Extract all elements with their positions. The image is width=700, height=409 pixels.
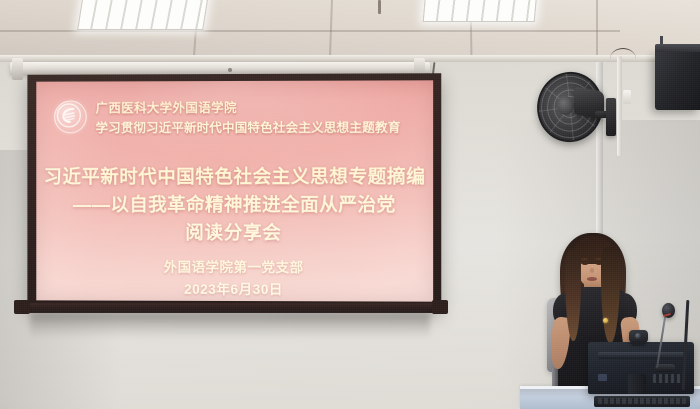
roller-screw bbox=[228, 68, 232, 72]
ceiling-light-panel-left bbox=[77, 0, 209, 30]
presenter-eyebrow-left bbox=[581, 258, 588, 260]
party-emblem-lapel-pin bbox=[603, 318, 608, 323]
monitor-port-panel bbox=[653, 374, 683, 383]
screen-endcap-right bbox=[432, 300, 448, 314]
monitor-brand-logo bbox=[598, 374, 607, 381]
slide-title-block: 习近平新时代中国特色社会主义思想专题摘编 ——以自我革命精神推进全面从严治党 阅… bbox=[36, 163, 433, 248]
slide-org-lines: 广西医科大学外国语学院 学习贯彻习近平新时代中国特色社会主义思想主题教育 bbox=[96, 97, 401, 137]
ceiling-hook-icon bbox=[378, 0, 381, 14]
projection-screen[interactable]: 广西医科大学外国语学院 学习贯彻习近平新时代中国特色社会主义思想主题教育 习近平… bbox=[27, 73, 441, 311]
slide-title-line-2: ——以自我革命精神推进全面从严治党 bbox=[36, 191, 433, 219]
slide-org-line-2: 学习贯彻习近平新时代中国特色社会主义思想主题教育 bbox=[96, 117, 401, 137]
monitor-stand bbox=[628, 374, 646, 394]
fan-wall-plate bbox=[606, 98, 616, 136]
screen-weight-bar bbox=[18, 303, 442, 313]
monitor-vent-strip bbox=[598, 352, 684, 359]
roller-bracket-left bbox=[12, 58, 23, 80]
slide-title-line-1: 习近平新时代中国特色社会主义思想专题摘编 bbox=[36, 163, 433, 191]
slide-org-line-1: 广西医科大学外国语学院 bbox=[96, 97, 401, 117]
webcam-mount-clip bbox=[631, 341, 645, 346]
presenter-eye-left bbox=[582, 262, 588, 265]
slide-title-line-3: 阅读分享会 bbox=[36, 218, 433, 247]
wall-mounted-speaker bbox=[655, 52, 700, 110]
slide-footer-unit: 外国语学院第一党支部 bbox=[36, 257, 433, 280]
wall-mounted-fan[interactable] bbox=[537, 72, 609, 140]
ceiling-tile-seam bbox=[596, 0, 598, 56]
university-emblem-icon bbox=[54, 100, 87, 133]
keyboard-keys bbox=[598, 398, 686, 404]
ceiling-tile-seam bbox=[0, 30, 620, 32]
ceiling-wall-rail bbox=[0, 55, 700, 62]
slide-header: 广西医科大学外国语学院 学习贯彻习近平新时代中国特色社会主义思想主题教育 bbox=[54, 97, 401, 137]
presentation-slide: 广西医科大学外国语学院 学习贯彻习近平新时代中国特色社会主义思想主题教育 习近平… bbox=[36, 80, 433, 301]
fan-hub bbox=[557, 96, 574, 115]
presenter-mouth bbox=[587, 277, 597, 281]
wall-conduit bbox=[617, 56, 622, 156]
slide-footer: 外国语学院第一党支部 2023年6月30日 bbox=[36, 257, 433, 302]
screen-endcap-left bbox=[14, 300, 30, 314]
screen-drop-shadow bbox=[30, 313, 430, 339]
presenter-nose bbox=[590, 268, 594, 273]
ceiling-light-panel-right bbox=[423, 0, 538, 22]
slide-footer-date: 2023年6月30日 bbox=[36, 279, 433, 302]
classroom-photo-scene: 广西医科大学外国语学院 学习贯彻习近平新时代中国特色社会主义思想主题教育 习近平… bbox=[0, 0, 700, 409]
fan-wall-switch[interactable] bbox=[623, 90, 631, 104]
webcam-lens-icon bbox=[635, 333, 641, 339]
